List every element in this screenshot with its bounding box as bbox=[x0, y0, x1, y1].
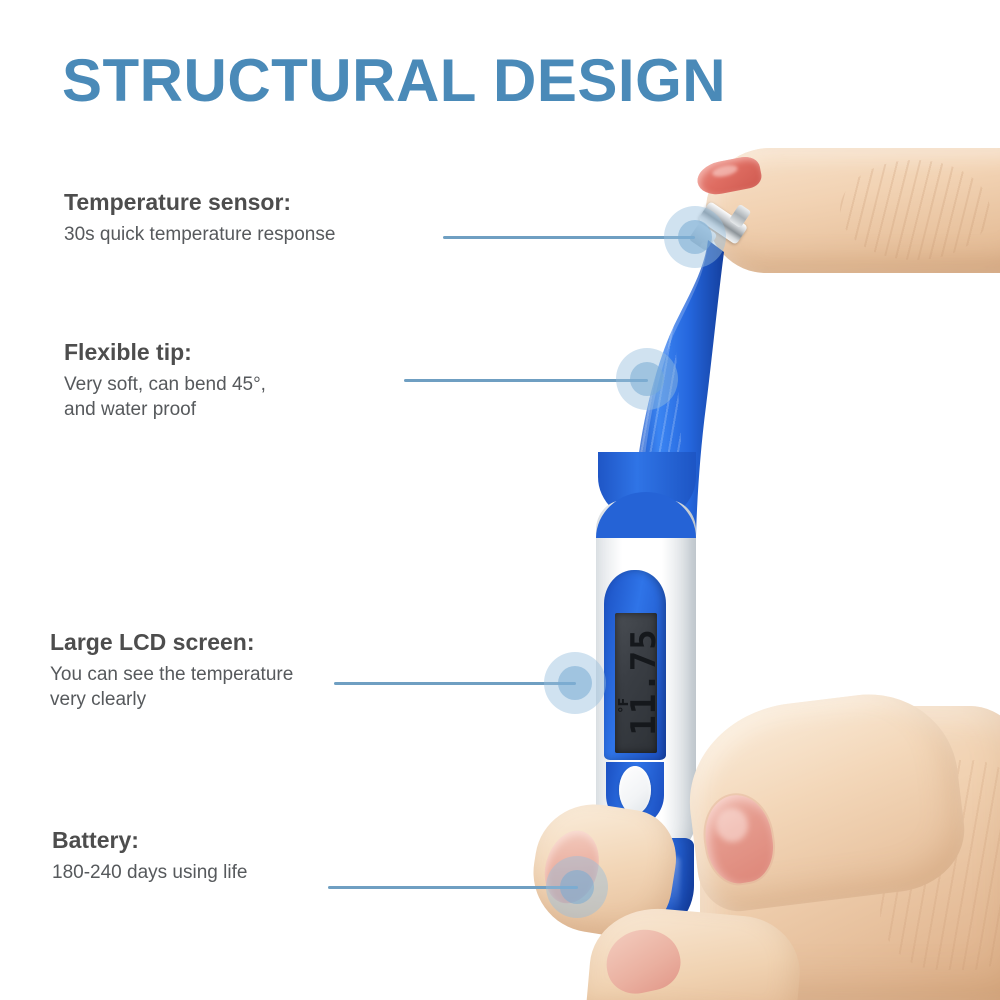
callout-temperature-sensor: Temperature sensor: 30s quick temperatur… bbox=[64, 188, 335, 247]
lcd-unit: °F bbox=[617, 698, 632, 713]
callout-body: You can see the temperature very clearly bbox=[50, 662, 293, 712]
marker-inner-dot bbox=[630, 362, 664, 396]
callout-title: Large LCD screen: bbox=[50, 628, 293, 657]
marker-temperature-sensor[interactable] bbox=[664, 206, 726, 268]
top-finger-creases bbox=[840, 160, 990, 260]
callout-large-lcd-screen: Large LCD screen: You can see the temper… bbox=[50, 628, 293, 712]
callout-title: Temperature sensor: bbox=[64, 188, 335, 217]
marker-inner-dot bbox=[560, 870, 594, 904]
leader-line-battery bbox=[328, 886, 578, 889]
callout-title: Battery: bbox=[52, 826, 247, 855]
marker-inner-dot bbox=[678, 220, 712, 254]
lcd-screen: 11.75 °F bbox=[615, 613, 657, 753]
callout-body: Very soft, can bend 45°, and water proof bbox=[64, 372, 266, 422]
leader-line-temperature-sensor bbox=[443, 236, 695, 239]
callout-title: Flexible tip: bbox=[64, 338, 266, 367]
marker-flexible-tip[interactable] bbox=[616, 348, 678, 410]
marker-large-lcd-screen[interactable] bbox=[544, 652, 606, 714]
power-button[interactable] bbox=[619, 766, 651, 814]
leader-line-flexible-tip bbox=[404, 379, 648, 382]
marker-inner-dot bbox=[558, 666, 592, 700]
lcd-reading: 11.75 bbox=[627, 619, 657, 745]
callout-body: 30s quick temperature response bbox=[64, 222, 335, 247]
infographic-canvas: STRUCTURAL DESIGN bbox=[0, 0, 1000, 1000]
callout-flexible-tip: Flexible tip: Very soft, can bend 45°, a… bbox=[64, 338, 266, 422]
callout-body: 180-240 days using life bbox=[52, 860, 247, 885]
marker-battery[interactable] bbox=[546, 856, 608, 918]
leader-line-large-lcd-screen bbox=[334, 682, 576, 685]
callout-battery: Battery: 180-240 days using life bbox=[52, 826, 247, 885]
